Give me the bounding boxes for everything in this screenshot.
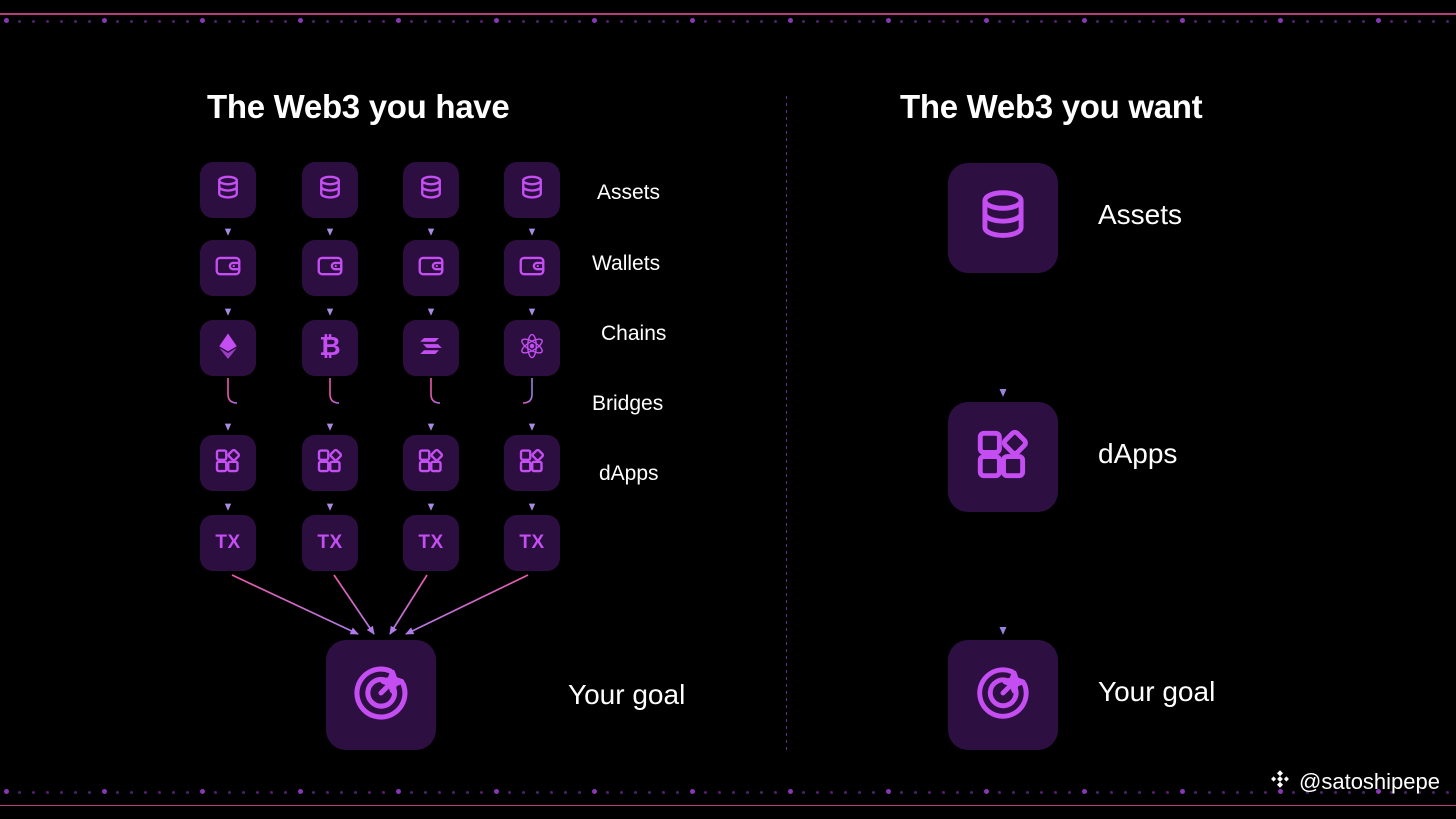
dapps-grid-icon — [416, 446, 446, 481]
right-step-label-your-goal: Your goal — [1098, 676, 1215, 708]
tx-label: TX — [519, 532, 544, 554]
left-panel: The Web3 you have ₿TXTXT — [0, 0, 786, 819]
database-stack-icon — [972, 185, 1034, 252]
bottom-border-line — [0, 805, 1456, 807]
dapps-grid-icon — [517, 446, 547, 481]
tx-label: TX — [317, 532, 342, 554]
solana-icon — [416, 331, 446, 366]
dapps-box[interactable] — [200, 435, 256, 491]
right-step-box-dapps[interactable] — [948, 402, 1058, 512]
ethereum-icon — [213, 331, 243, 366]
dapps-box[interactable] — [504, 435, 560, 491]
wallet-icon — [315, 251, 345, 286]
cosmos-icon — [517, 331, 547, 366]
svg-text:₿: ₿ — [319, 331, 340, 360]
goal-label: Your goal — [568, 679, 685, 711]
goal-box[interactable] — [326, 640, 436, 750]
database-stack-icon — [315, 173, 345, 208]
chain-box-solana[interactable] — [403, 320, 459, 376]
wallet-icon — [517, 251, 547, 286]
row-label-wallets: Wallets — [592, 252, 660, 276]
dapps-box[interactable] — [403, 435, 459, 491]
assets-box[interactable] — [504, 162, 560, 218]
dapps-grid-icon — [315, 446, 345, 481]
right-step-box-your-goal[interactable] — [948, 640, 1058, 750]
chain-box-ethereum[interactable] — [200, 320, 256, 376]
right-step-label-assets: Assets — [1098, 199, 1182, 231]
wallet-icon — [416, 251, 446, 286]
bottom-border-decoration — [0, 785, 1456, 819]
database-stack-icon — [517, 173, 547, 208]
tx-box[interactable]: TX — [200, 515, 256, 571]
assets-box[interactable] — [403, 162, 459, 218]
watermark: @satoshipepe — [1268, 767, 1440, 797]
tx-label: TX — [418, 532, 443, 554]
dapps-grid-icon — [213, 446, 243, 481]
row-label-chains: Chains — [601, 322, 666, 346]
assets-box[interactable] — [302, 162, 358, 218]
bitcoin-icon: ₿ — [315, 331, 345, 366]
target-dart-icon — [972, 662, 1034, 729]
watermark-handle: @satoshipepe — [1299, 769, 1440, 795]
wallet-icon — [213, 251, 243, 286]
chain-box-cosmos[interactable] — [504, 320, 560, 376]
bottom-border-dots — [0, 787, 1456, 803]
tx-box[interactable]: TX — [403, 515, 459, 571]
binance-diamond-icon — [1268, 767, 1292, 797]
tx-label: TX — [215, 532, 240, 554]
database-stack-icon — [213, 173, 243, 208]
right-panel-title: The Web3 you want — [900, 88, 1202, 126]
tx-box[interactable]: TX — [302, 515, 358, 571]
row-label-assets: Assets — [597, 181, 660, 205]
chain-box-bitcoin[interactable]: ₿ — [302, 320, 358, 376]
wallets-box[interactable] — [302, 240, 358, 296]
wallets-box[interactable] — [200, 240, 256, 296]
right-panel: The Web3 you want AssetsdAppsYour goal — [786, 0, 1456, 819]
database-stack-icon — [416, 173, 446, 208]
row-label-bridges: Bridges — [592, 392, 663, 416]
tx-box[interactable]: TX — [504, 515, 560, 571]
target-dart-icon — [349, 661, 413, 730]
left-panel-title: The Web3 you have — [207, 88, 509, 126]
assets-box[interactable] — [200, 162, 256, 218]
dapps-box[interactable] — [302, 435, 358, 491]
right-step-label-dapps: dApps — [1098, 438, 1177, 470]
dapps-grid-icon — [972, 424, 1034, 491]
row-label-dapps: dApps — [599, 462, 659, 486]
wallets-box[interactable] — [403, 240, 459, 296]
wallets-box[interactable] — [504, 240, 560, 296]
right-step-box-assets[interactable] — [948, 163, 1058, 273]
